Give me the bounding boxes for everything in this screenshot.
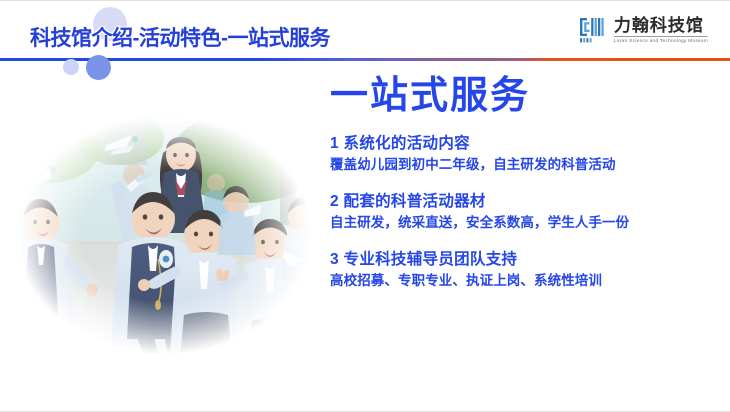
feature-point-3-body: 高校招募、专职专业、执证上岗、系统性培训 (330, 271, 722, 292)
brand-divider (614, 36, 708, 37)
feature-point-3: 3 专业科技辅导员团队支持 高校招募、专职专业、执证上岗、系统性培训 (330, 248, 722, 292)
header-divider-line (0, 58, 730, 61)
brand-subtitle: LiHan Science and Technology Museum (614, 38, 708, 43)
activity-photo-image (8, 109, 320, 361)
feature-point-2: 2 配套的科普活动器材 自主研发，统采直送，安全系数高，学生人手一份 (330, 190, 722, 234)
brand-logo: 力翰科技馆 LiHan Science and Technology Museu… (577, 15, 708, 45)
feature-point-1-heading: 1 系统化的活动内容 (330, 132, 722, 155)
feature-point-2-heading: 2 配套的科普活动器材 (330, 190, 722, 213)
brand-name: 力翰科技馆 (614, 17, 704, 35)
feature-point-1: 1 系统化的活动内容 覆盖幼儿园到初中二年级，自主研发的科普活动 (330, 132, 722, 176)
slide-content: 一站式服务 1 系统化的活动内容 覆盖幼儿园到初中二年级，自主研发的科普活动 2… (330, 76, 722, 292)
decorative-circle-large (86, 55, 111, 80)
feature-point-1-body: 覆盖幼儿园到初中二年级，自主研发的科普活动 (330, 155, 722, 176)
slide-header: 科技馆介绍-活动特色-一站式服务 (0, 1, 730, 63)
slide-canvas: 科技馆介绍-活动特色-一站式服务 (0, 0, 730, 412)
page-title: 一站式服务 (330, 76, 722, 118)
feature-point-3-heading: 3 专业科技辅导员团队支持 (330, 248, 722, 271)
decorative-circle-small (63, 59, 79, 75)
feature-point-2-body: 自主研发，统采直送，安全系数高，学生人手一份 (330, 213, 722, 234)
activity-photo (8, 109, 320, 361)
brand-logo-text: 力翰科技馆 LiHan Science and Technology Museu… (614, 17, 708, 44)
breadcrumb: 科技馆介绍-活动特色-一站式服务 (30, 22, 330, 52)
lihan-logo-mark-icon (577, 15, 607, 45)
